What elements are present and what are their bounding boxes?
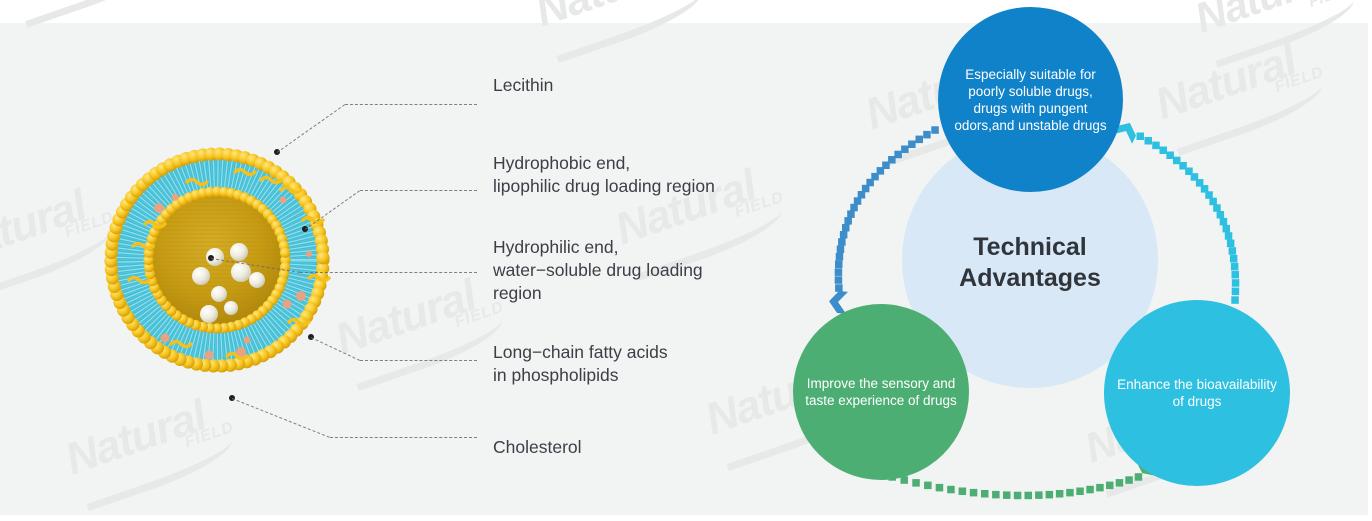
cycle-node-cyan-text: Enhance the bioavailability of drugs [1104, 376, 1290, 410]
label-long-chain-fatty-acids: Long−chain fatty acidsin phospholipids [493, 341, 668, 387]
leader-line [360, 360, 477, 361]
cycle-node-green[interactable]: Improve the sensory and taste experience… [793, 304, 969, 480]
center-title: TechnicalAdvantages [912, 232, 1148, 294]
cycle-node-blue[interactable]: Especially suitable for poorly soluble d… [938, 7, 1123, 192]
cycle-node-cyan[interactable]: Enhance the bioavailability of drugs [1104, 300, 1290, 486]
watermark: NaturalFIELD [0, 0, 168, 6]
label-cholesterol: Cholesterol [493, 436, 582, 459]
label-hydrophilic-end: Hydrophilic end,water−soluble drug loadi… [493, 236, 703, 305]
leader-line [300, 272, 477, 273]
cycle-node-blue-text: Especially suitable for poorly soluble d… [938, 66, 1123, 134]
leader-line [330, 437, 477, 438]
cycle-node-green-text: Improve the sensory and taste experience… [793, 375, 969, 409]
leader-line [345, 104, 477, 105]
leader-line [360, 190, 477, 191]
label-lecithin: Lecithin [493, 74, 553, 97]
label-hydrophobic-end: Hydrophobic end,lipophilic drug loading … [493, 152, 715, 198]
infographic-canvas: NaturalFIELDNaturalFIELDNaturalFIELDNatu… [0, 0, 1372, 521]
